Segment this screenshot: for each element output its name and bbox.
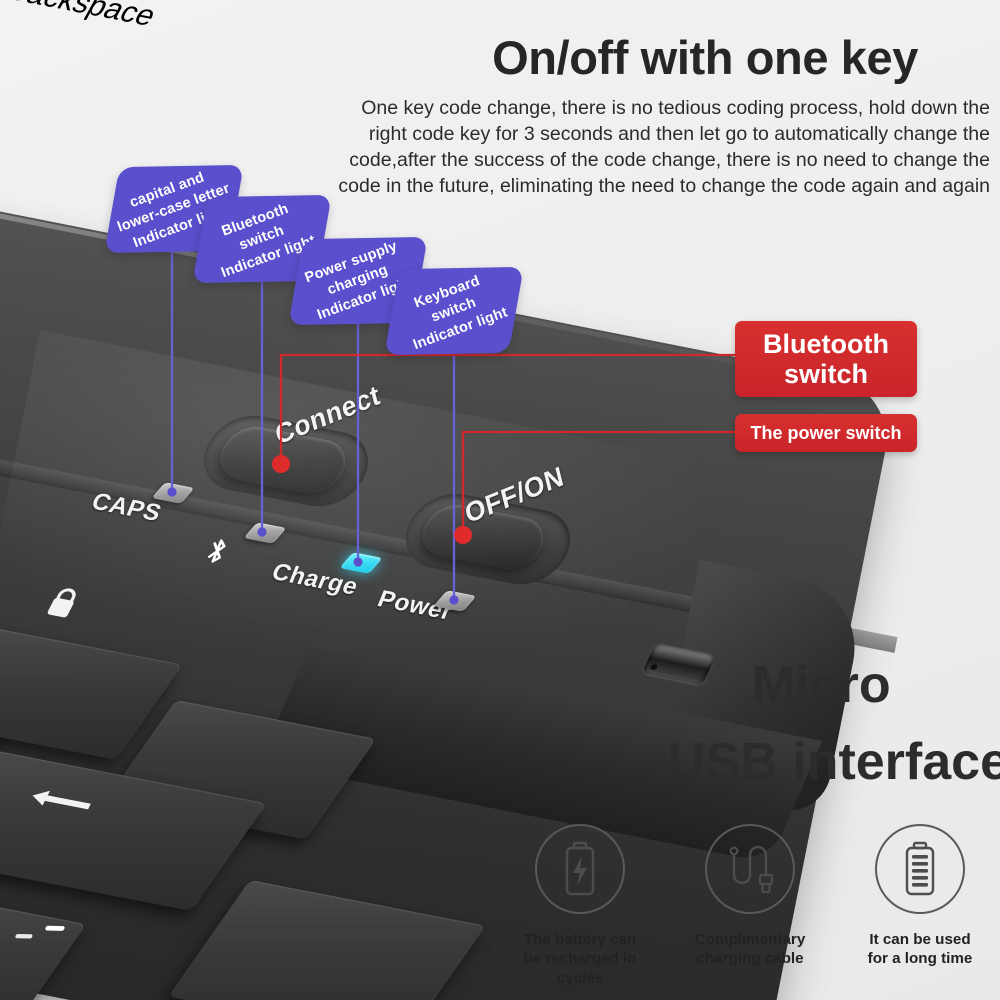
feature-icon-circle: [875, 824, 965, 914]
page-title: On/off with one key: [420, 30, 990, 85]
usb-cable-icon: [725, 841, 775, 897]
product-infographic: F12 Delete Backspace Connect OFF/ON CAPS…: [0, 0, 1000, 1000]
feature-row: The battery can be recharged in cycles C…: [500, 824, 1000, 988]
feature-charging-cable: Complimentary charging cable: [670, 824, 830, 988]
feature-caption: Complimentary charging cable: [695, 930, 806, 969]
battery-charging-icon: [557, 840, 603, 898]
micro-usb-heading-line2: USB interface: [668, 732, 1000, 792]
feature-icon-circle: [705, 824, 795, 914]
feature-caption: It can be used for a long time: [868, 930, 973, 969]
callout-keyboard-switch-indicator[interactable]: Keyboard switch Indicator light: [384, 267, 524, 355]
feature-long-battery-life: It can be used for a long time: [840, 824, 1000, 988]
battery-full-icon: [897, 840, 943, 898]
feature-icon-circle: [535, 824, 625, 914]
micro-usb-heading-line1: Micro: [752, 655, 891, 715]
callout-bluetooth-switch[interactable]: Bluetooth switch: [735, 321, 917, 397]
callout-the-power-switch[interactable]: The power switch: [735, 414, 917, 452]
feature-caption: The battery can be recharged in cycles: [500, 930, 660, 988]
page-description: One key code change, there is no tedious…: [330, 96, 990, 200]
feature-battery-recharge: The battery can be recharged in cycles: [500, 824, 660, 988]
